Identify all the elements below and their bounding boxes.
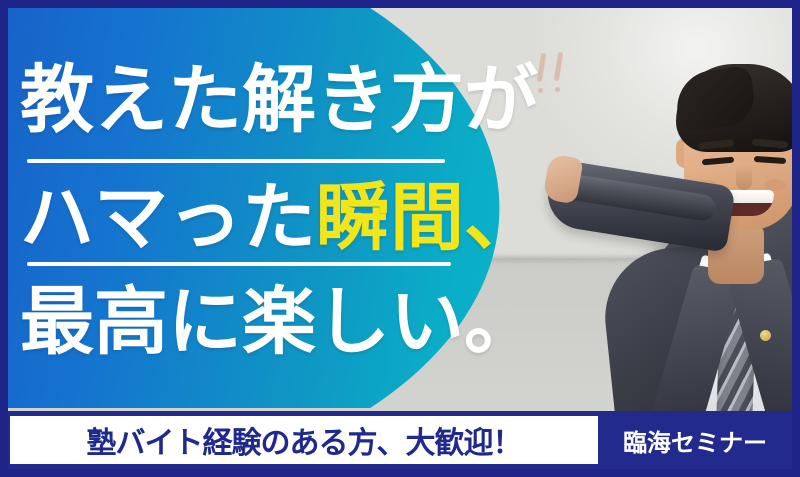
headline-line-2-prefix: ハマった [20,175,316,261]
headline-line-3: 最高に楽しい。 [20,280,538,364]
lapel-pin-icon [760,330,771,341]
tagline-box: 塾バイト経験のある方、大歓迎！ [10,416,598,464]
footer-bar: 塾バイト経験のある方、大歓迎！ 臨海セミナー [8,411,792,469]
recruitment-banner: 教えた解き方が ハマった瞬間、 最高に楽しい。 塾バイト経験のある方、大歓迎！ … [0,0,800,477]
brand-name: 臨海セミナー [598,423,792,458]
headline-divider-1 [27,159,445,163]
headline-block: 教えた解き方が ハマった瞬間、 最高に楽しい。 [8,8,548,408]
headline-line-2-highlight: 瞬間、 [316,175,538,261]
nose [736,164,752,190]
headline-divider-2 [27,262,451,266]
headline-line-1: 教えた解き方が [20,58,538,142]
headline-line-2: ハマった瞬間、 [20,176,538,260]
tagline-text: 塾バイト経験のある方、大歓迎！ [87,418,522,462]
